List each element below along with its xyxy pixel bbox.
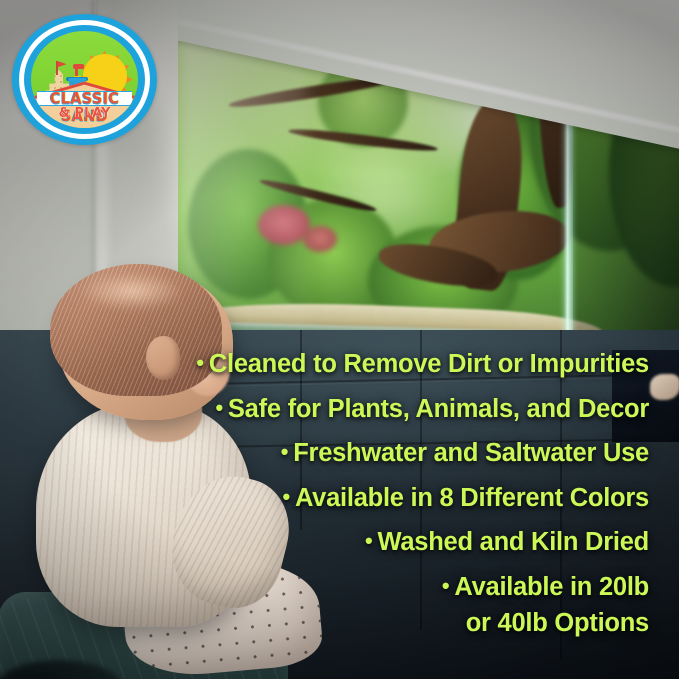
child-hair-highlight	[80, 272, 184, 310]
child-ear	[146, 336, 180, 380]
list-item: •Freshwater and Saltwater Use	[179, 441, 649, 467]
list-item: •Available in 8 Different Colors	[179, 486, 649, 512]
list-item: •Washed and Kiln Dried	[179, 530, 649, 556]
bullet-dot-icon: •	[215, 395, 222, 420]
cabinet-object	[650, 374, 679, 400]
bullet-dot-icon: •	[282, 484, 289, 509]
bullet-text: Freshwater and Saltwater Use	[293, 439, 649, 467]
castle-flag-icon	[58, 61, 67, 67]
logo-face: CLASSIC SAND & PLAY	[31, 31, 138, 128]
bullet-text: Available in 8 Different Colors	[295, 484, 649, 512]
bullet-dot-icon: •	[442, 573, 449, 598]
bullet-text: Available in 20lb	[454, 573, 649, 601]
shovel-grip-icon	[73, 64, 84, 69]
bullet-text: Washed and Kiln Dried	[377, 528, 649, 556]
bullet-dot-icon: •	[196, 350, 203, 375]
bullet-dot-icon: •	[365, 528, 372, 553]
bullet-text-line2: or 40lb Options	[179, 611, 649, 637]
bullet-dot-icon: •	[281, 439, 288, 464]
feature-bullet-list: •Cleaned to Remove Dirt or Impurities •S…	[179, 352, 649, 643]
classic-sand-and-play-logo[interactable]: CLASSIC SAND & PLAY	[12, 14, 157, 145]
product-marketing-image: CLASSIC SAND & PLAY •Cleaned to Remove D…	[0, 0, 679, 679]
logo-brand-line2: & PLAY	[31, 106, 138, 121]
list-item: •Safe for Plants, Animals, and Decor	[179, 397, 649, 423]
bullet-text: Safe for Plants, Animals, and Decor	[228, 395, 649, 423]
list-item: •Available in 20lb or 40lb Options	[179, 575, 649, 637]
list-item: •Cleaned to Remove Dirt or Impurities	[179, 352, 649, 378]
bullet-text: Cleaned to Remove Dirt or Impurities	[209, 350, 649, 378]
